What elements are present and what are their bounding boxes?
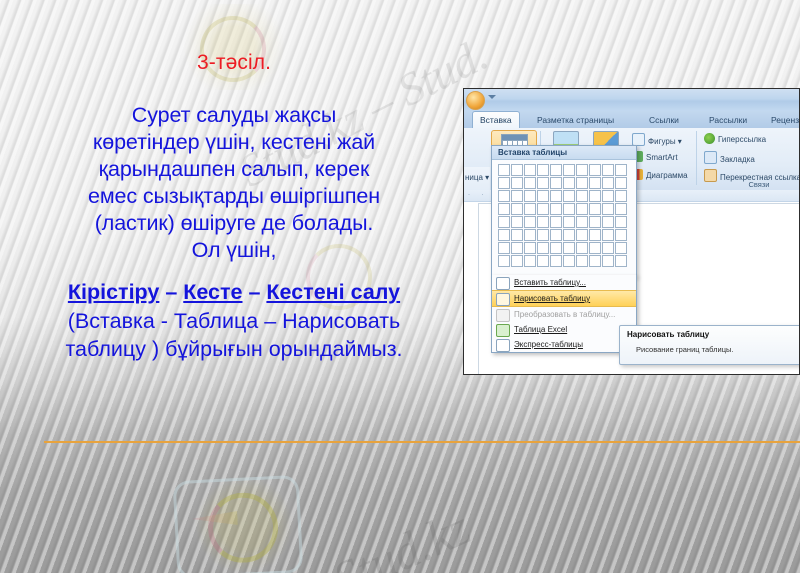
- table-size-cell[interactable]: [550, 164, 562, 176]
- paragraph-main: Сурет салуды жақсы көретіндер үшін, кест…: [8, 102, 460, 264]
- paragraph-line: Сурет салуды жақсы: [8, 102, 460, 129]
- convert-to-table-icon: [496, 309, 510, 322]
- table-size-cell[interactable]: [511, 242, 523, 254]
- table-size-cell[interactable]: [589, 242, 601, 254]
- table-size-cell[interactable]: [615, 216, 627, 228]
- word-ribbon-tabstrip: Вставка Разметка страницы Ссылки Рассылк…: [464, 111, 800, 129]
- table-size-cell[interactable]: [615, 242, 627, 254]
- tooltip-title: Нарисовать таблицу: [627, 330, 709, 339]
- table-size-cell[interactable]: [524, 190, 536, 202]
- table-size-cell[interactable]: [576, 177, 588, 189]
- table-size-cell[interactable]: [615, 177, 627, 189]
- chart-item[interactable]: Диаграмма: [632, 169, 688, 180]
- table-size-cell[interactable]: [550, 190, 562, 202]
- table-size-cell[interactable]: [524, 216, 536, 228]
- menu-item-convert-to-table: Преобразовать в таблицу...: [492, 307, 636, 322]
- table-size-cell[interactable]: [615, 255, 627, 267]
- table-size-cell[interactable]: [498, 255, 510, 267]
- word-title-bar: Документ1 - Microsoft Wo: [464, 89, 800, 112]
- menu-item-quick-tables[interactable]: Экспресс-таблицы: [492, 337, 636, 352]
- command-path-line: Кірістіру – Кесте – Кестені салу: [8, 278, 460, 307]
- table-size-cell[interactable]: [576, 164, 588, 176]
- table-size-cell[interactable]: [550, 216, 562, 228]
- table-size-cell[interactable]: [537, 177, 549, 189]
- table-size-cell[interactable]: [602, 255, 614, 267]
- table-size-cell[interactable]: [615, 190, 627, 202]
- menu-item-excel-table[interactable]: Таблица Excel: [492, 322, 636, 337]
- table-size-cell[interactable]: [602, 203, 614, 215]
- gallery-header-label: Вставка таблицы: [492, 146, 636, 160]
- table-size-cell[interactable]: [602, 242, 614, 254]
- tab-razmetka[interactable]: Разметка страницы: [530, 112, 621, 128]
- draw-table-tooltip: Нарисовать таблицу Рисование границ табл…: [619, 325, 800, 365]
- command-dash: –: [243, 280, 267, 304]
- tab-recenzirovanie[interactable]: Рецензирование: [764, 112, 800, 128]
- chart-label: Диаграмма: [646, 171, 688, 180]
- table-size-cell[interactable]: [576, 255, 588, 267]
- slide-canvas: Stud.kz – Stud. Stud.kz 3-тәсіл. Сурет с…: [0, 0, 800, 573]
- table-size-cell[interactable]: [550, 255, 562, 267]
- table-size-cell[interactable]: [537, 242, 549, 254]
- table-size-cell[interactable]: [498, 229, 510, 241]
- table-size-cell[interactable]: [498, 164, 510, 176]
- table-size-cell[interactable]: [524, 242, 536, 254]
- table-size-cell[interactable]: [498, 177, 510, 189]
- table-size-cell[interactable]: [602, 190, 614, 202]
- command-keyword-table: Кесте: [183, 280, 242, 304]
- table-size-cell[interactable]: [524, 229, 536, 241]
- table-size-cell[interactable]: [589, 229, 601, 241]
- tab-rassylki[interactable]: Рассылки: [702, 112, 754, 128]
- table-size-cell[interactable]: [576, 216, 588, 228]
- table-size-cell[interactable]: [524, 255, 536, 267]
- table-size-cell[interactable]: [589, 164, 601, 176]
- table-size-cell[interactable]: [537, 203, 549, 215]
- table-size-cell[interactable]: [615, 164, 627, 176]
- menu-item-label: Нарисовать таблицу: [514, 294, 590, 303]
- table-size-cell[interactable]: [524, 164, 536, 176]
- table-size-cell[interactable]: [537, 255, 549, 267]
- paragraph-line: көретіндер үшін, кестені жай: [8, 129, 460, 156]
- table-size-grid[interactable]: [498, 164, 627, 267]
- command-keyword-insert: Кірістіру: [68, 280, 159, 304]
- links-group-label: Связи: [704, 180, 800, 189]
- table-size-cell[interactable]: [537, 229, 549, 241]
- group-separator: [696, 131, 697, 185]
- menu-item-label: Преобразовать в таблицу...: [514, 310, 615, 319]
- table-size-cell[interactable]: [537, 164, 549, 176]
- tab-vstavka[interactable]: Вставка: [472, 111, 520, 129]
- table-size-cell[interactable]: [563, 203, 575, 215]
- table-size-cell[interactable]: [511, 164, 523, 176]
- office-orb-icon[interactable]: [466, 91, 485, 110]
- table-size-cell[interactable]: [576, 242, 588, 254]
- word-screenshot-image: Документ1 - Microsoft Wo Вставка Разметк…: [463, 88, 800, 375]
- table-size-cell[interactable]: [511, 203, 523, 215]
- command-keyword-draw-table: Кестені салу: [266, 280, 400, 304]
- table-size-cell[interactable]: [615, 203, 627, 215]
- table-size-cell[interactable]: [511, 190, 523, 202]
- table-size-cell[interactable]: [563, 190, 575, 202]
- paragraph-line: (Вставка - Таблица – Нарисовать: [8, 307, 460, 335]
- table-size-cell[interactable]: [576, 190, 588, 202]
- table-size-cell[interactable]: [511, 216, 523, 228]
- gold-divider-line: [44, 441, 800, 443]
- tab-ssylki[interactable]: Ссылки: [642, 112, 686, 128]
- chevron-down-icon[interactable]: [488, 95, 496, 99]
- hyperlink-label: Гиперссылка: [718, 135, 766, 144]
- bookmark-item[interactable]: Закладка: [704, 151, 755, 164]
- table-size-cell[interactable]: [537, 190, 549, 202]
- table-size-cell[interactable]: [511, 177, 523, 189]
- menu-item-draw-table[interactable]: Нарисовать таблицу: [492, 290, 636, 307]
- smartart-item[interactable]: SmartArt: [632, 151, 678, 162]
- insert-table-icon: [496, 277, 510, 290]
- table-size-cell[interactable]: [563, 242, 575, 254]
- table-size-cell[interactable]: [602, 216, 614, 228]
- paragraph-line: таблицу ) бұйрығын орындаймыз.: [8, 335, 460, 363]
- table-size-cell[interactable]: [563, 216, 575, 228]
- table-dropdown-menu[interactable]: Вставить таблицу... Нарисовать таблицу П…: [491, 275, 637, 353]
- bookmark-icon: [704, 151, 717, 164]
- table-size-cell[interactable]: [537, 216, 549, 228]
- menu-item-insert-table[interactable]: Вставить таблицу...: [492, 275, 636, 290]
- menu-item-label: Экспресс-таблицы: [514, 340, 583, 349]
- paragraph-line: емес сызықтарды өшіргішпен: [8, 183, 460, 210]
- table-size-cell[interactable]: [602, 229, 614, 241]
- table-size-cell[interactable]: [550, 177, 562, 189]
- table-size-cell[interactable]: [524, 177, 536, 189]
- shapes-label: Фигуры ▾: [648, 137, 682, 146]
- table-size-cell[interactable]: [550, 242, 562, 254]
- hyperlink-item[interactable]: Гиперссылка: [704, 133, 766, 144]
- paragraph-translation: (Вставка - Таблица – Нарисовать таблицу …: [8, 307, 460, 363]
- slide-text-block: 3-тәсіл. Сурет салуды жақсы көретіндер ү…: [8, 50, 460, 363]
- menu-item-label: Вставить таблицу...: [514, 278, 586, 287]
- bookmark-label: Закладка: [720, 155, 755, 164]
- table-size-cell[interactable]: [563, 229, 575, 241]
- shapes-item[interactable]: Фигуры ▾: [632, 133, 682, 146]
- table-size-cell[interactable]: [563, 255, 575, 267]
- table-size-cell[interactable]: [589, 216, 601, 228]
- paragraph-line: қарындашпен салып, керек: [8, 156, 460, 183]
- menu-item-label: Таблица Excel: [514, 325, 567, 334]
- table-size-cell[interactable]: [498, 216, 510, 228]
- table-size-cell[interactable]: [589, 255, 601, 267]
- table-size-cell[interactable]: [602, 177, 614, 189]
- table-size-cell[interactable]: [589, 203, 601, 215]
- table-size-cell[interactable]: [550, 229, 562, 241]
- table-size-cell[interactable]: [615, 229, 627, 241]
- table-size-cell[interactable]: [511, 255, 523, 267]
- paragraph-line: Ол үшін,: [8, 237, 460, 264]
- table-size-cell[interactable]: [498, 190, 510, 202]
- table-size-cell[interactable]: [602, 164, 614, 176]
- cutoff-label-top: ница ▾: [465, 173, 489, 182]
- table-size-cell[interactable]: [511, 229, 523, 241]
- hyperlink-icon: [704, 133, 715, 144]
- quick-tables-icon: [496, 339, 510, 352]
- table-size-cell[interactable]: [576, 229, 588, 241]
- table-size-cell[interactable]: [576, 203, 588, 215]
- table-size-cell[interactable]: [550, 203, 562, 215]
- tooltip-body: Рисование границ таблицы.: [636, 345, 733, 354]
- table-size-cell[interactable]: [498, 242, 510, 254]
- insert-table-gallery[interactable]: Вставка таблицы: [491, 145, 637, 277]
- draw-table-pencil-icon: [496, 293, 510, 306]
- excel-table-icon: [496, 324, 510, 337]
- paragraph-line: (ластик) өшіруге де болады.: [8, 210, 460, 237]
- table-size-cell[interactable]: [498, 203, 510, 215]
- command-dash: –: [159, 280, 183, 304]
- smartart-label: SmartArt: [646, 153, 678, 162]
- slide-title: 3-тәсіл.: [8, 50, 460, 76]
- table-size-cell[interactable]: [589, 177, 601, 189]
- table-size-cell[interactable]: [563, 164, 575, 176]
- table-size-cell[interactable]: [524, 203, 536, 215]
- table-size-cell[interactable]: [589, 190, 601, 202]
- table-size-cell[interactable]: [563, 177, 575, 189]
